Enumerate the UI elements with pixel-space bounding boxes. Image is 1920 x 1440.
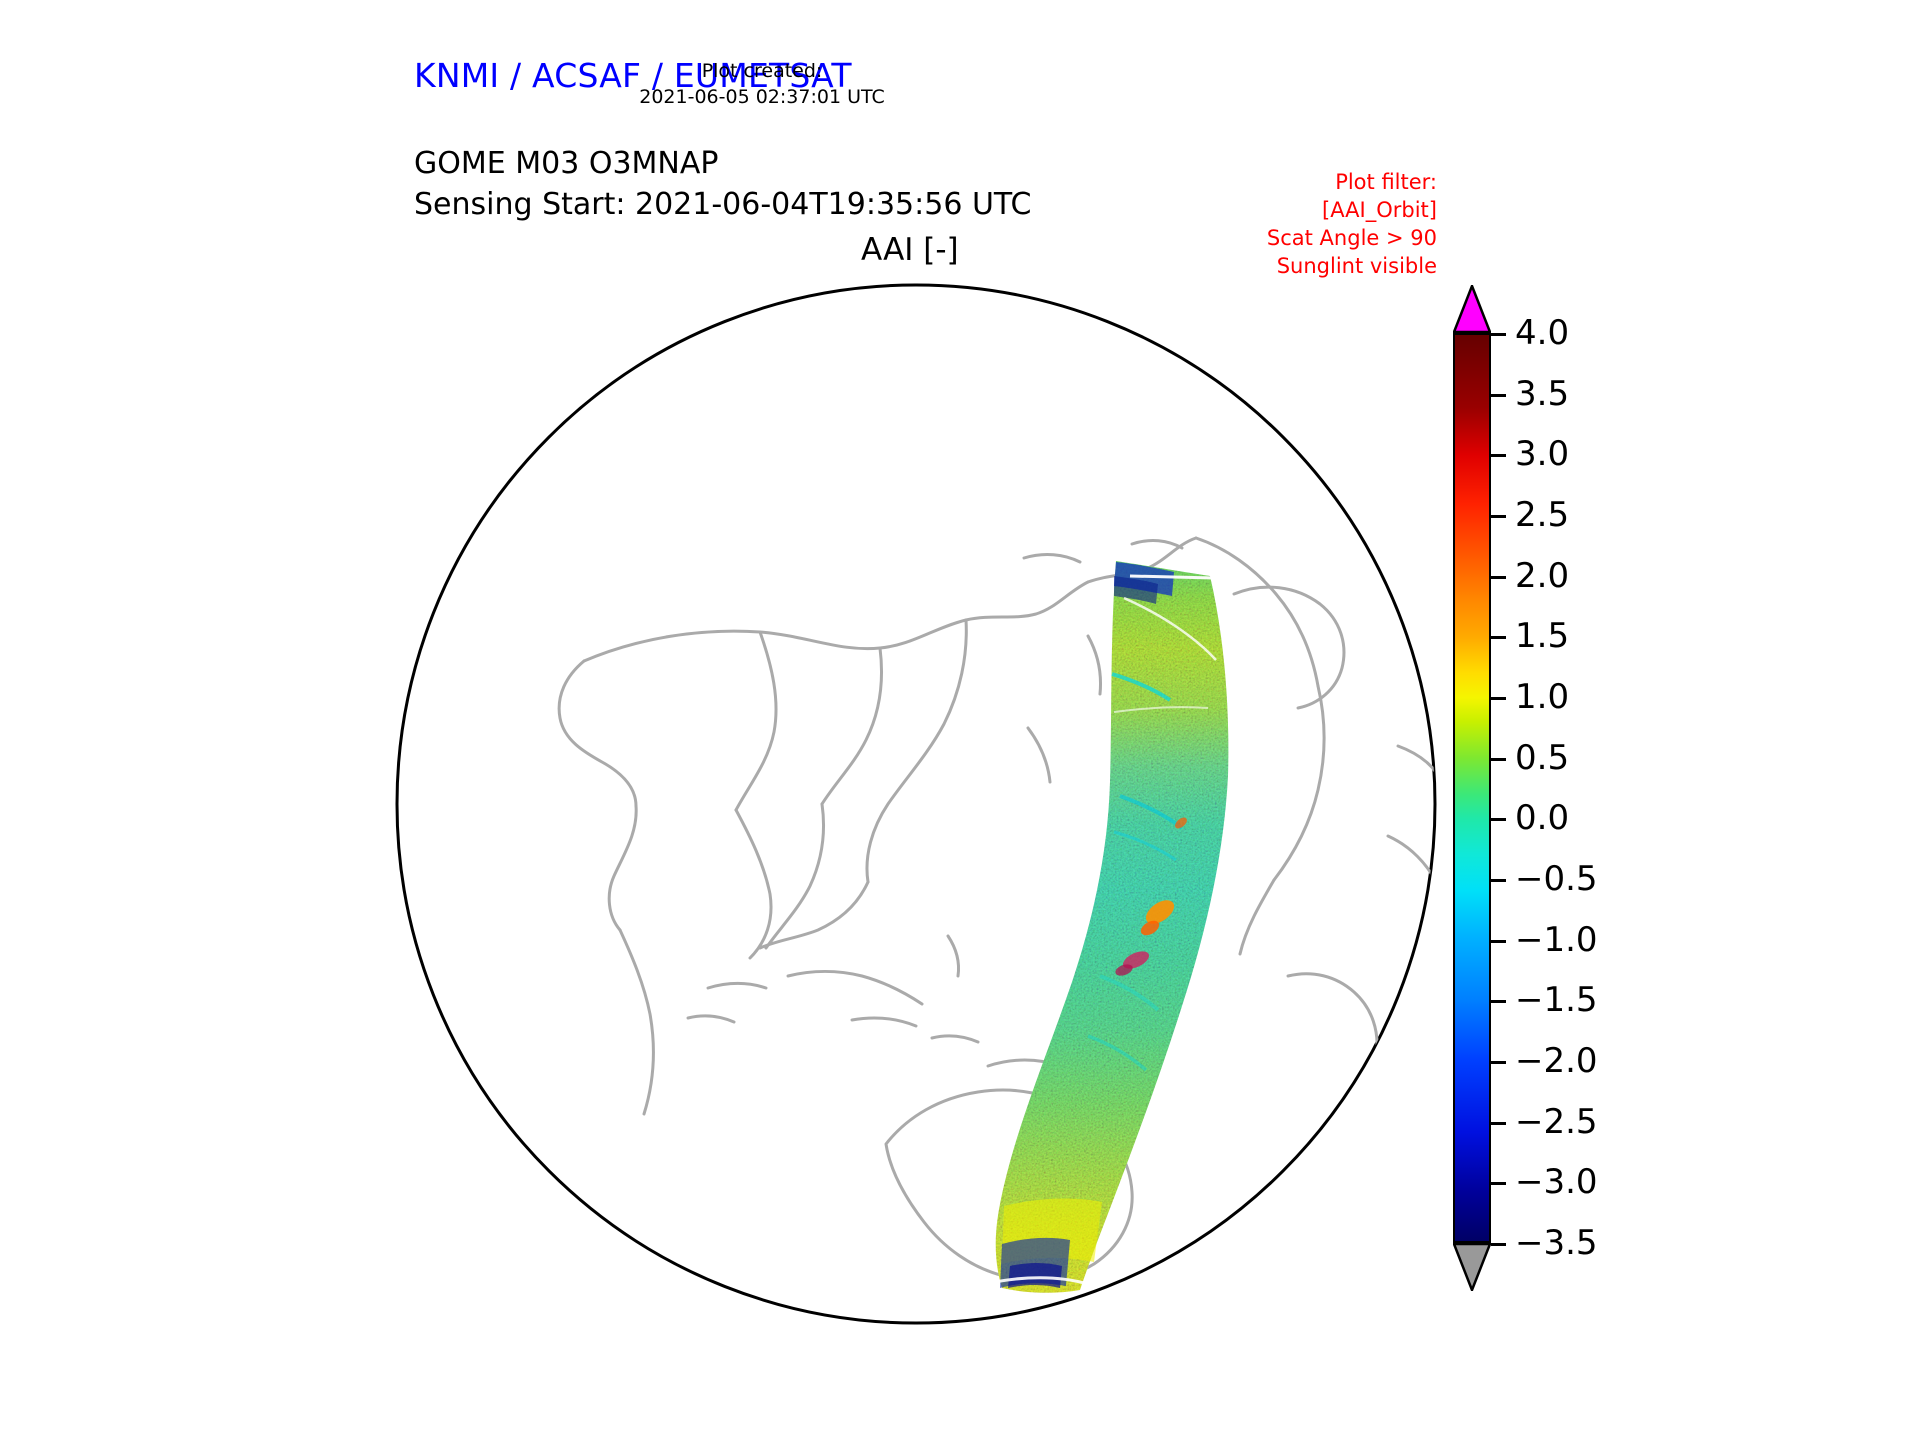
- colorbar: 4.03.53.02.52.01.51.00.50.0−0.5−1.0−1.5−…: [1443, 285, 1693, 1295]
- plot-created-block: Plot created: 2021-06-05 02:37:01 UTC: [552, 58, 972, 110]
- colorbar-tick-label: 4.0: [1515, 316, 1569, 350]
- colorbar-tick: [1491, 515, 1506, 518]
- plot-filter-dataset: [AAI_Orbit]: [1185, 196, 1437, 224]
- colorbar-tick-label: −1.0: [1515, 923, 1598, 957]
- map-plot-area: [388, 276, 1444, 1332]
- colorbar-tick: [1491, 636, 1506, 639]
- product-title-block: GOME M03 O3MNAP Sensing Start: 2021-06-0…: [414, 143, 1031, 225]
- plot-created-label: Plot created:: [552, 58, 972, 84]
- colorbar-tick: [1491, 576, 1506, 579]
- colorbar-tick: [1491, 394, 1506, 397]
- plot-filter-label: Plot filter:: [1185, 168, 1437, 196]
- colorbar-tick: [1491, 1061, 1506, 1064]
- colorbar-tick-label: 2.0: [1515, 559, 1569, 593]
- colorbar-tick-label: 1.5: [1515, 619, 1569, 653]
- colorbar-tick: [1491, 940, 1506, 943]
- plot-created-timestamp: 2021-06-05 02:37:01 UTC: [552, 84, 972, 110]
- colorbar-over-arrow-outline: [1453, 285, 1491, 333]
- colorbar-tick-label: −3.0: [1515, 1165, 1598, 1199]
- colorbar-tick: [1491, 1122, 1506, 1125]
- colorbar-gradient: [1453, 333, 1491, 1243]
- colorbar-tick-label: 3.0: [1515, 437, 1569, 471]
- colorbar-tick: [1491, 879, 1506, 882]
- colorbar-tick-label: −2.5: [1515, 1105, 1598, 1139]
- colorbar-tick-label: 0.5: [1515, 741, 1569, 775]
- colorbar-tick: [1491, 333, 1506, 336]
- colorbar-tick-label: 2.5: [1515, 498, 1569, 532]
- colorbar-tick: [1491, 1000, 1506, 1003]
- globe-outline: [397, 285, 1435, 1323]
- colorbar-tick-label: −3.5: [1515, 1226, 1598, 1260]
- plot-filter-block: Plot filter: [AAI_Orbit] Scat Angle > 90…: [1185, 168, 1437, 280]
- colorbar-tick-label: −2.0: [1515, 1044, 1598, 1078]
- colorbar-tick: [1491, 1182, 1506, 1185]
- globe-map: [388, 276, 1444, 1332]
- sensing-start-line: Sensing Start: 2021-06-04T19:35:56 UTC: [414, 184, 1031, 225]
- colorbar-tick-label: 1.0: [1515, 680, 1569, 714]
- colorbar-tick-label: 0.0: [1515, 801, 1569, 835]
- colorbar-tick-label: 3.5: [1515, 377, 1569, 411]
- colorbar-tick-label: −1.5: [1515, 983, 1598, 1017]
- instrument-line: GOME M03 O3MNAP: [414, 143, 1031, 184]
- colorbar-under-arrow-outline: [1453, 1243, 1491, 1291]
- quantity-title: AAI [-]: [861, 232, 959, 268]
- colorbar-tick: [1491, 818, 1506, 821]
- colorbar-tick: [1491, 454, 1506, 457]
- colorbar-tick: [1491, 697, 1506, 700]
- plot-filter-scat-angle: Scat Angle > 90: [1185, 224, 1437, 252]
- colorbar-tick-label: −0.5: [1515, 862, 1598, 896]
- colorbar-tick: [1491, 1243, 1506, 1246]
- colorbar-tick: [1491, 758, 1506, 761]
